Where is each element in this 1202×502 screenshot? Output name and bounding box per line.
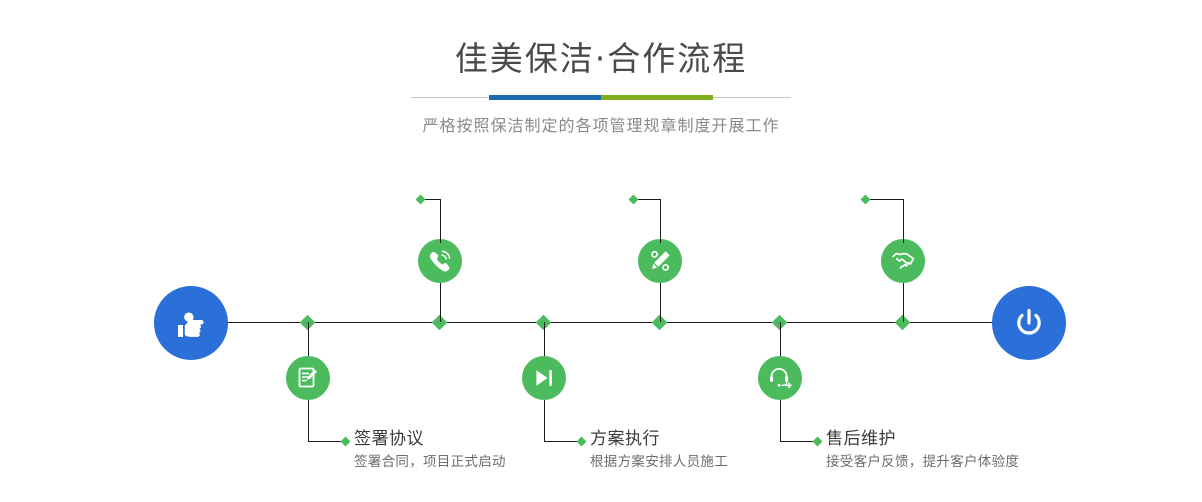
step-leader-dot-1 xyxy=(416,195,426,205)
step-connector-5-vertical xyxy=(903,199,904,243)
step-connector-3-vertical-lower xyxy=(660,283,661,322)
pointing-hand-icon xyxy=(171,303,211,343)
step-connector-4-vertical-upper xyxy=(544,322,545,356)
page-subtitle: 严格按照保洁制定的各项管理规章制度开展工作 xyxy=(0,112,1202,136)
step-icon-4[interactable] xyxy=(522,356,566,400)
step-connector-2-vertical xyxy=(308,400,309,441)
step-connector-2-vertical-upper xyxy=(308,322,309,356)
step-icon-2[interactable] xyxy=(286,356,330,400)
step-connector-5-vertical-lower xyxy=(903,283,904,322)
play-forward-icon xyxy=(531,365,557,391)
step-desc-6: 接受客户反馈，提升客户体验度 xyxy=(826,452,1019,472)
page-title: 佳美保洁·合作流程 xyxy=(0,38,1202,80)
phone-call-icon xyxy=(427,248,453,274)
step-desc-4: 根据方案安排人员施工 xyxy=(590,452,728,472)
step-connector-3-horizontal xyxy=(637,199,661,200)
step-icon-3[interactable] xyxy=(638,239,682,283)
pencil-ruler-icon xyxy=(647,248,673,274)
document-pencil-icon xyxy=(295,365,321,391)
divider-segment-blue xyxy=(489,95,601,100)
step-leader-dot-3 xyxy=(629,195,639,205)
step-title-6: 售后维护 xyxy=(826,428,1019,450)
handshake-icon xyxy=(890,248,916,274)
step-label-2: 签署协议 签署合同，项目正式启动 xyxy=(354,428,506,472)
step-connector-3-vertical xyxy=(660,199,661,243)
step-connector-6-vertical xyxy=(780,400,781,441)
step-connector-1-vertical-lower xyxy=(440,283,441,322)
step-leader-dot-5 xyxy=(861,195,871,205)
step-leader-dot-6 xyxy=(813,437,823,447)
step-label-4: 方案执行 根据方案安排人员施工 xyxy=(590,428,728,472)
divider-segment-green xyxy=(601,95,713,100)
title-divider xyxy=(411,94,791,101)
headset-support-icon xyxy=(767,365,793,391)
timeline-end-node[interactable] xyxy=(992,286,1066,360)
timeline-start-node[interactable] xyxy=(154,286,228,360)
step-connector-4-vertical xyxy=(544,400,545,441)
header: 佳美保洁·合作流程 严格按照保洁制定的各项管理规章制度开展工作 xyxy=(0,0,1202,136)
step-title-2: 签署协议 xyxy=(354,428,506,450)
flow-diagram-canvas: 佳美保洁·合作流程 严格按照保洁制定的各项管理规章制度开展工作 xyxy=(0,0,1202,502)
step-connector-6-vertical-upper xyxy=(780,322,781,356)
step-connector-6-horizontal xyxy=(780,441,816,442)
step-connector-2-horizontal xyxy=(308,441,344,442)
step-connector-1-horizontal xyxy=(424,199,441,200)
step-icon-6[interactable] xyxy=(758,356,802,400)
power-icon xyxy=(1009,303,1049,343)
step-icon-1[interactable] xyxy=(418,239,462,283)
step-icon-5[interactable] xyxy=(881,239,925,283)
step-label-6: 售后维护 接受客户反馈，提升客户体验度 xyxy=(826,428,1019,472)
step-desc-2: 签署合同，项目正式启动 xyxy=(354,452,506,472)
step-leader-dot-4 xyxy=(577,437,587,447)
step-connector-4-horizontal xyxy=(544,441,580,442)
step-connector-5-horizontal xyxy=(869,199,904,200)
step-title-4: 方案执行 xyxy=(590,428,728,450)
step-leader-dot-2 xyxy=(341,437,351,447)
step-connector-1-vertical xyxy=(440,199,441,243)
